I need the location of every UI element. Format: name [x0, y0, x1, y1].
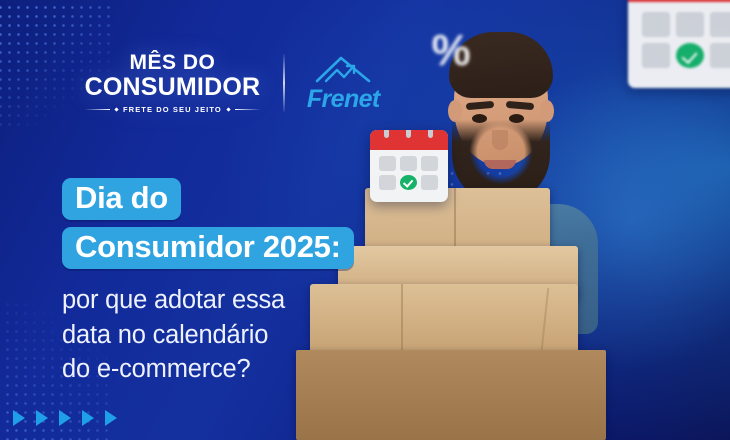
lockup-divider [283, 54, 285, 112]
headline: Dia do Consumidor 2025: [62, 178, 354, 269]
play-triangle-right-icon [105, 410, 117, 426]
play-triangle-right-icon [36, 410, 48, 426]
headline-line-1: Dia do [62, 178, 181, 220]
promo-banner: % % % MÊS DO CONSUMIDOR FRETE DO SEU JEI… [0, 0, 730, 440]
play-triangle-right-icon [59, 410, 71, 426]
rule-left [84, 109, 110, 110]
arrow-decoration-row [13, 410, 117, 426]
diamond-icon-left [114, 108, 118, 112]
logo-line-2: CONSUMIDOR [84, 74, 261, 100]
headline-row-2: Consumidor 2025: [62, 227, 354, 269]
check-icon [400, 175, 417, 190]
smile [484, 160, 516, 169]
logo-tagline: FRETE DO SEU JEITO [123, 105, 222, 114]
calendar-check-icon [370, 130, 448, 202]
mes-do-consumidor-logo: MÊS DO CONSUMIDOR FRETE DO SEU JEITO [84, 52, 261, 114]
subheadline-line-1: por que adotar essa [62, 283, 392, 318]
percent-symbol-top: % [424, 24, 478, 78]
play-triangle-right-icon [13, 410, 25, 426]
frenet-wordmark: Frenet [307, 87, 380, 112]
logo-tagline-row: FRETE DO SEU JEITO [84, 105, 261, 114]
ear-left [448, 100, 462, 122]
calendar-check-icon-corner [628, 0, 730, 88]
check-icon [676, 43, 704, 68]
logo-line-1: MÊS DO [84, 52, 261, 73]
header-logo-lockup: MÊS DO CONSUMIDOR FRETE DO SEU JEITO Fre… [84, 52, 380, 114]
subheadline: por que adotar essa data no calendário d… [62, 283, 392, 387]
ear-right [540, 100, 554, 122]
headline-line-2: Consumidor 2025: [62, 227, 354, 269]
frenet-logo: Frenet [307, 54, 380, 112]
headline-row-1: Dia do [62, 178, 354, 220]
rule-right [235, 109, 261, 110]
play-triangle-right-icon [82, 410, 94, 426]
percent-glyph: % [431, 29, 470, 73]
subheadline-line-3: do e-commerce? [62, 352, 392, 387]
subheadline-line-2: data no calendário [62, 318, 392, 353]
mountain-arrow-icon [313, 54, 373, 84]
diamond-icon-right [226, 108, 230, 112]
